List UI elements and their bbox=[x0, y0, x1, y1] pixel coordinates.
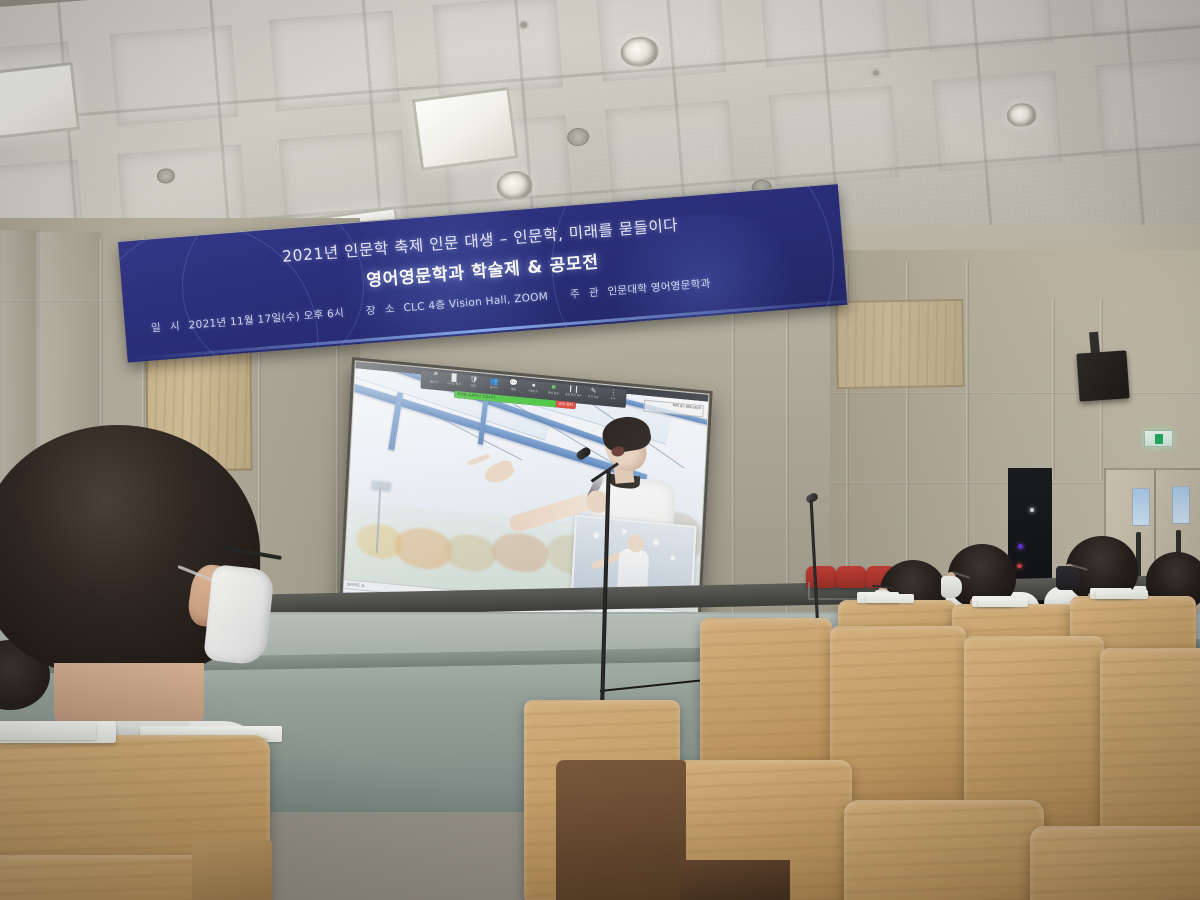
ceiling-coffer bbox=[432, 0, 563, 97]
zoom-pause-share-button[interactable]: ❙❙ 공유 일시 중지 bbox=[565, 385, 582, 397]
zoom-annotate-button[interactable]: ✎ 주석 작성 bbox=[585, 387, 602, 399]
zoom-more-button[interactable]: ⋮ 추가 bbox=[605, 389, 622, 401]
seat-back-strip bbox=[978, 598, 1028, 607]
zoom-record-button[interactable]: ● 기록하기 bbox=[525, 381, 542, 393]
door-vision-panel bbox=[1132, 488, 1150, 526]
auditorium-seat[interactable] bbox=[1030, 826, 1200, 900]
wall-wood-panel bbox=[835, 299, 965, 389]
seat-armrest bbox=[556, 760, 686, 900]
stadium-light-head bbox=[371, 480, 391, 492]
zoom-mute-button[interactable]: 🎤 음소거 bbox=[426, 372, 443, 384]
zoom-security-label: 보안 bbox=[471, 383, 476, 387]
wall-speaker-icon bbox=[1076, 350, 1129, 401]
zoom-stop-video-button[interactable]: █ 비디오 중지 bbox=[446, 374, 463, 386]
inset-stage-light bbox=[671, 556, 675, 560]
wall-seam bbox=[732, 268, 735, 628]
zoom-record-label: 기록하기 bbox=[528, 389, 538, 394]
zoom-more-label: 추가 bbox=[611, 397, 616, 401]
seat-back-strip bbox=[866, 594, 914, 603]
zoom-chat-label: 채팅 bbox=[511, 387, 516, 391]
banner-info-key-place: 장 소 bbox=[365, 301, 398, 318]
auditorium-photo: 2021년 인문학 축제 인문 대생 – 인문학, 미래를 묻들이다 영어영문학… bbox=[0, 0, 1200, 900]
zoom-share-screen-label: 화면 공유 bbox=[548, 391, 559, 396]
auditorium-seat[interactable] bbox=[0, 855, 200, 900]
equipment-led bbox=[1017, 564, 1022, 568]
wall-seam bbox=[1052, 300, 1055, 480]
seat-back-strip bbox=[0, 722, 96, 740]
zoom-stop-video-label: 비디오 중지 bbox=[447, 381, 461, 386]
zoom-participants-label: 참가자 bbox=[490, 385, 498, 389]
ceiling-panel-light bbox=[412, 87, 519, 171]
zoom-share-screen-button[interactable]: ■ 화면 공유 bbox=[545, 383, 562, 395]
foreground-attendee bbox=[0, 425, 280, 755]
ceiling-coffer bbox=[110, 25, 239, 126]
wall-seam bbox=[832, 392, 1200, 394]
auditorium-seat[interactable] bbox=[844, 800, 1044, 900]
seat-back-strip bbox=[1096, 590, 1148, 599]
zoom-pause-share-label: 공유 일시 중지 bbox=[565, 392, 582, 397]
face-mask bbox=[203, 564, 275, 666]
wall-seam bbox=[786, 266, 789, 626]
ceiling-coffer bbox=[768, 85, 899, 186]
seat-base bbox=[680, 860, 790, 900]
ceiling-coffer bbox=[605, 100, 736, 201]
ceiling-panel-light bbox=[0, 62, 80, 140]
zoom-mute-label: 음소거 bbox=[430, 380, 438, 384]
face-mask bbox=[941, 576, 962, 598]
ceiling-coffer bbox=[932, 70, 1063, 171]
face-mask bbox=[1056, 566, 1080, 590]
banner-info-key-datetime: 일 시 bbox=[150, 318, 183, 335]
zoom-chat-button[interactable]: 💬 채팅 bbox=[505, 380, 522, 392]
banner-info-key-host: 주 관 bbox=[569, 284, 602, 301]
zoom-participants-button[interactable]: 👥 참가자 bbox=[486, 378, 503, 390]
door-vision-panel bbox=[1172, 486, 1190, 524]
exit-running-man-icon bbox=[1155, 434, 1163, 444]
exit-sign bbox=[1144, 430, 1173, 447]
ceiling-coffer bbox=[269, 10, 400, 111]
ceiling-coffer bbox=[596, 0, 727, 82]
equipment-led bbox=[1030, 508, 1034, 512]
zoom-annotate-label: 주석 작성 bbox=[588, 395, 599, 400]
ceiling-coffer bbox=[1095, 55, 1200, 156]
wall-seam bbox=[0, 300, 120, 302]
equipment-led bbox=[1018, 544, 1023, 549]
seat-armrest bbox=[192, 840, 272, 900]
ceiling-coffer bbox=[759, 0, 890, 67]
zoom-security-button[interactable]: 🛡 보안 bbox=[466, 376, 483, 388]
wall-seam bbox=[966, 260, 969, 590]
inset-performer bbox=[607, 532, 658, 594]
speaker-bracket bbox=[1089, 332, 1100, 355]
